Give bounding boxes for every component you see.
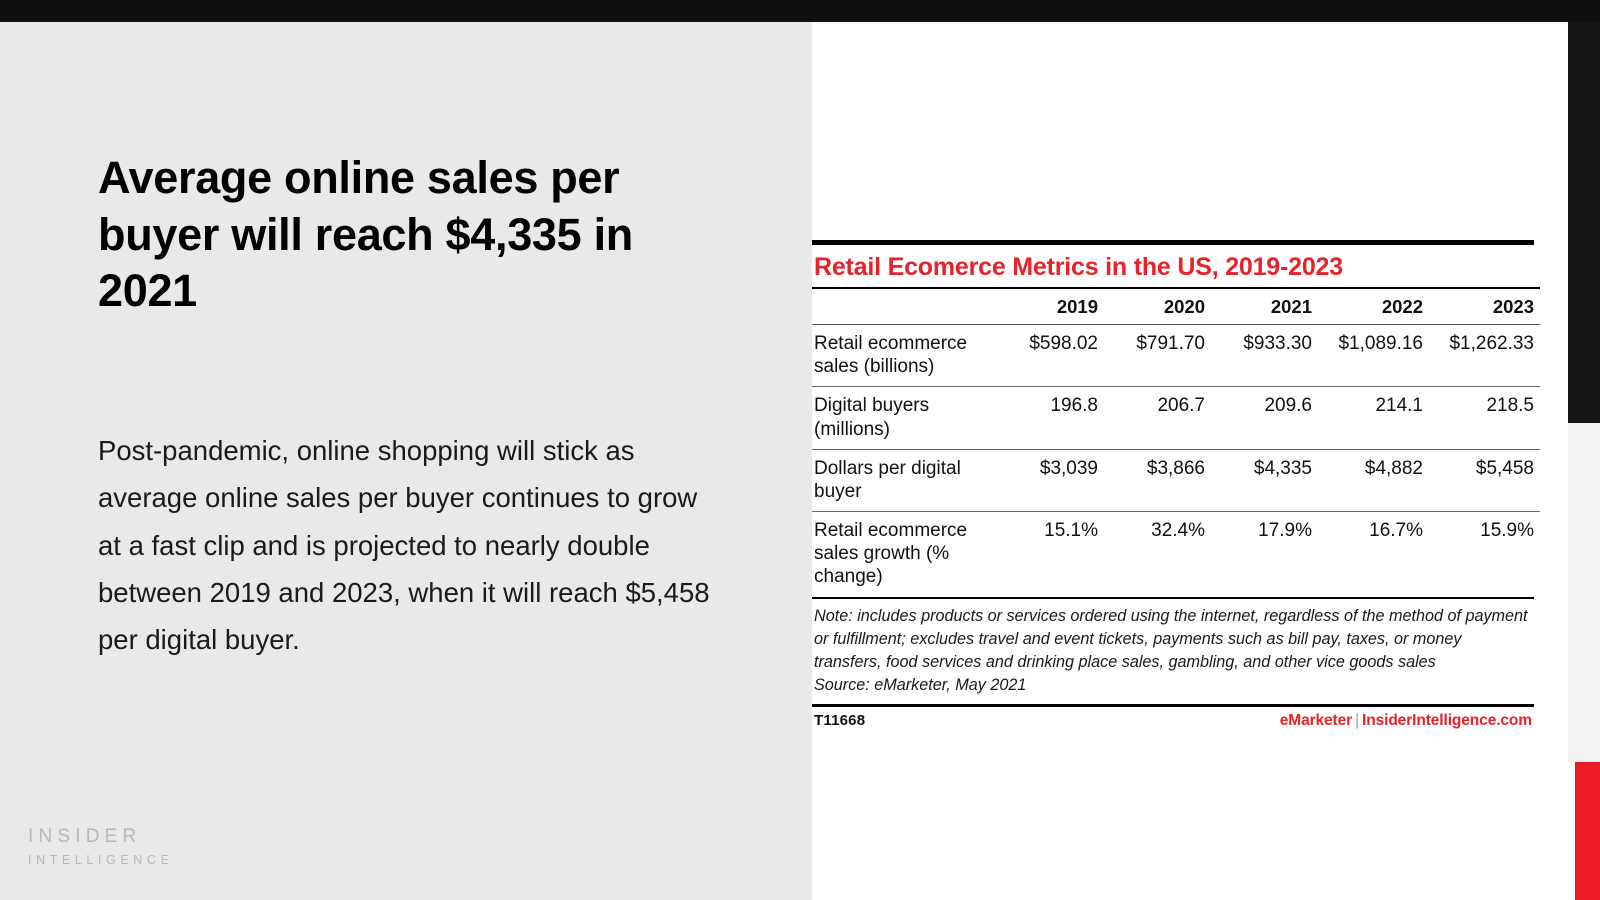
column-header-metric xyxy=(812,288,997,325)
cell-value: 209.6 xyxy=(1211,387,1318,449)
table-row: Dollars per digital buyer $3,039 $3,866 … xyxy=(812,449,1540,511)
table-note: Note: includes products or services orde… xyxy=(812,599,1534,674)
table-row: Retail ecommerce sales (billions) $598.0… xyxy=(812,325,1540,387)
cell-value: 32.4% xyxy=(1104,512,1211,597)
page-title: Average online sales per buyer will reac… xyxy=(98,150,738,320)
data-table-card: Retail Ecomerce Metrics in the US, 2019-… xyxy=(812,240,1534,730)
column-header-2023: 2023 xyxy=(1429,288,1540,325)
left-panel: Average online sales per buyer will reac… xyxy=(0,22,812,900)
cell-value: $1,089.16 xyxy=(1318,325,1429,387)
cell-value: 206.7 xyxy=(1104,387,1211,449)
table-header-row-group: 2019 2020 2021 2022 2023 xyxy=(812,288,1540,325)
row-label: Retail ecommerce sales growth (% change) xyxy=(812,512,997,597)
cell-value: 15.1% xyxy=(997,512,1104,597)
chart-id: T11668 xyxy=(814,712,865,729)
table-row: Digital buyers (millions) 196.8 206.7 20… xyxy=(812,387,1540,449)
table-body: Retail ecommerce sales (billions) $598.0… xyxy=(812,325,1540,597)
footer-branding: eMarketer|InsiderIntelligence.com xyxy=(1280,712,1532,730)
cell-value: 17.9% xyxy=(1211,512,1318,597)
logo-line-insider: INSIDER xyxy=(28,823,174,852)
cell-value: $933.30 xyxy=(1211,325,1318,387)
column-header-2022: 2022 xyxy=(1318,288,1429,325)
column-header-2019: 2019 xyxy=(997,288,1104,325)
brand-separator: | xyxy=(1352,712,1362,729)
metrics-table: 2019 2020 2021 2022 2023 Retail ecommerc… xyxy=(812,287,1540,597)
cell-value: 15.9% xyxy=(1429,512,1540,597)
table-title: Retail Ecomerce Metrics in the US, 2019-… xyxy=(812,245,1534,287)
brand-insiderintelligence[interactable]: InsiderIntelligence.com xyxy=(1362,712,1532,729)
cell-value: $791.70 xyxy=(1104,325,1211,387)
slide-root: Average online sales per buyer will reac… xyxy=(0,0,1600,900)
cell-value: $3,039 xyxy=(997,449,1104,511)
row-label: Dollars per digital buyer xyxy=(812,449,997,511)
table-header-row: 2019 2020 2021 2022 2023 xyxy=(812,288,1540,325)
column-header-2020: 2020 xyxy=(1104,288,1211,325)
row-label: Digital buyers (millions) xyxy=(812,387,997,449)
cell-value: $5,458 xyxy=(1429,449,1540,511)
row-label: Retail ecommerce sales (billions) xyxy=(812,325,997,387)
body-paragraph: Post-pandemic, online shopping will stic… xyxy=(98,427,718,663)
brand-emarketer: eMarketer xyxy=(1280,712,1352,729)
cell-value: 214.1 xyxy=(1318,387,1429,449)
right-black-band xyxy=(1568,22,1600,423)
cell-value: $1,262.33 xyxy=(1429,325,1540,387)
cell-value: 218.5 xyxy=(1429,387,1540,449)
right-gray-band xyxy=(1568,423,1600,762)
right-red-accent-block xyxy=(1575,762,1600,900)
table-source: Source: eMarketer, May 2021 xyxy=(812,674,1534,704)
cell-value: 196.8 xyxy=(997,387,1104,449)
top-black-bar xyxy=(0,0,1600,22)
cell-value: $4,882 xyxy=(1318,449,1429,511)
table-footer: T11668 eMarketer|InsiderIntelligence.com xyxy=(812,707,1534,730)
cell-value: 16.7% xyxy=(1318,512,1429,597)
logo-line-intelligence: INTELLIGENCE xyxy=(28,851,174,870)
cell-value: $4,335 xyxy=(1211,449,1318,511)
insider-intelligence-logo: INSIDER INTELLIGENCE xyxy=(28,823,174,870)
column-header-2021: 2021 xyxy=(1211,288,1318,325)
cell-value: $598.02 xyxy=(997,325,1104,387)
table-row: Retail ecommerce sales growth (% change)… xyxy=(812,512,1540,597)
cell-value: $3,866 xyxy=(1104,449,1211,511)
